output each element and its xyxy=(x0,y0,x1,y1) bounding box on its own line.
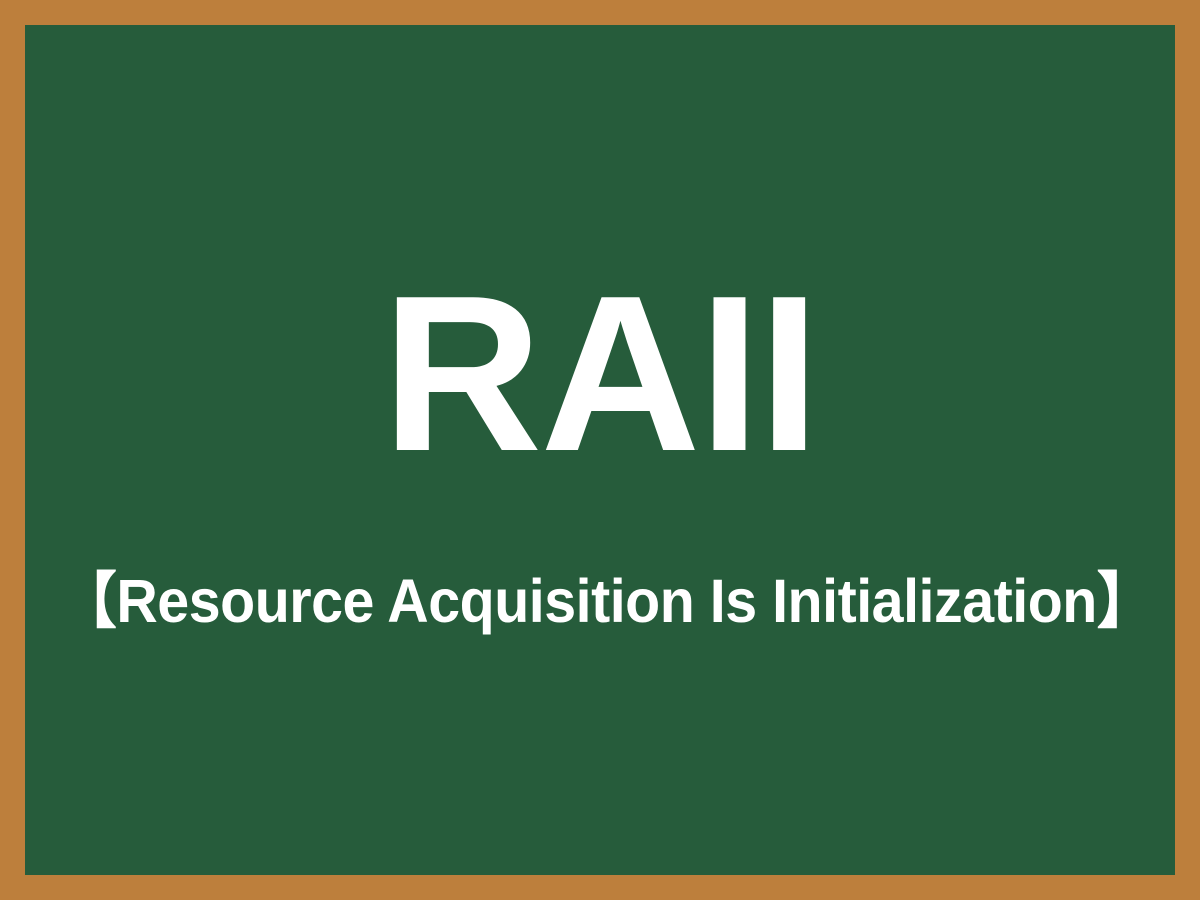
slide-title: RAII xyxy=(25,263,1175,485)
slide-panel: RAII 【Resource Acquisition Is Initializa… xyxy=(25,25,1175,875)
slide-frame: RAII 【Resource Acquisition Is Initializa… xyxy=(0,0,1200,900)
title-block: RAII 【Resource Acquisition Is Initializa… xyxy=(25,263,1175,632)
slide-subtitle: 【Resource Acquisition Is Initialization】 xyxy=(60,571,1141,632)
